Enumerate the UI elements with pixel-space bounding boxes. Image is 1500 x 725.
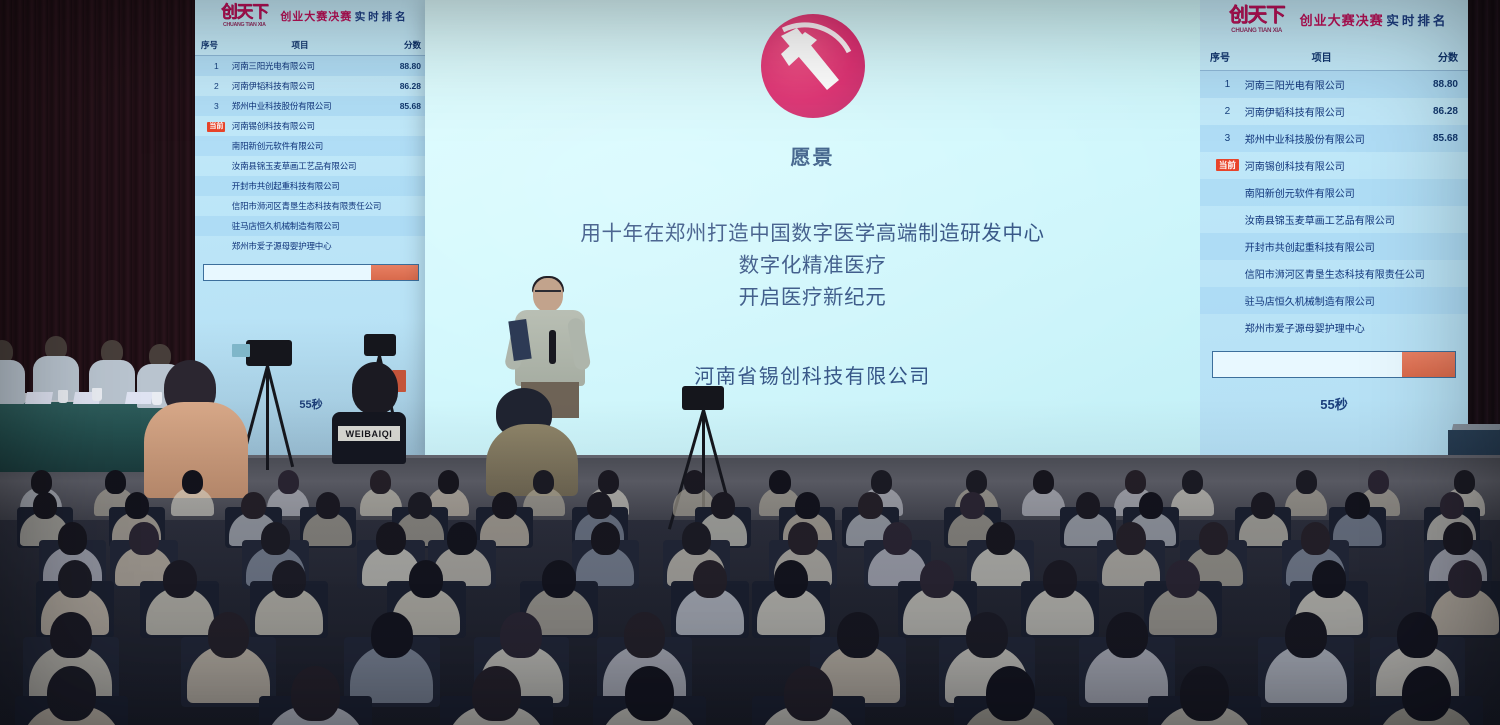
attendee-head: [795, 492, 819, 519]
video-camera-icon: [682, 386, 724, 410]
ranking-row: 2河南伊韬科技有限公司86.28: [1200, 98, 1468, 125]
ranking-row: 1河南三阳光电有限公司88.80: [195, 56, 427, 76]
attendee-head: [1043, 560, 1077, 598]
attendee-head: [1397, 612, 1438, 658]
column-header-item: 项目: [232, 39, 368, 51]
column-header-no: 序号: [1210, 49, 1245, 64]
ranking-row: 2河南伊韬科技有限公司86.28: [195, 76, 427, 96]
ranking-row: 3郑州中业科技股份有限公司85.68: [195, 96, 427, 116]
attendee-head: [920, 560, 954, 598]
column-header-score: 分数: [1398, 49, 1458, 64]
ranking-row: 信阳市浉河区青垦生态科技有限责任公司: [195, 196, 427, 216]
attendee-head: [591, 522, 620, 555]
ranking-column-header: 序号 项目 分数: [1200, 42, 1468, 71]
attendee-shoulders: [486, 424, 578, 496]
attendee-head: [684, 470, 705, 494]
ranking-row-company: 汝南县锦玉麦草画工艺品有限公司: [232, 160, 368, 172]
water-cup: [152, 392, 162, 405]
ranking-row: 开封市共创起重科技有限公司: [1200, 233, 1468, 260]
attendee-head: [1106, 612, 1147, 658]
attendee-head: [542, 560, 576, 598]
attendee-head: [31, 470, 52, 494]
video-camera-icon: [246, 340, 292, 366]
ranking-row-company: 驻马店恒久机械制造有限公司: [1245, 293, 1399, 308]
attendee-head: [33, 492, 57, 519]
attendee-head: [438, 470, 459, 494]
attendee-head: [50, 612, 91, 658]
current-entry-badge: 当前: [1216, 159, 1239, 172]
ranking-row-company: 河南锡创科技有限公司: [1245, 158, 1399, 173]
attendee-head: [774, 560, 808, 598]
ranking-row: 汝南县锦玉麦草画工艺品有限公司: [195, 156, 427, 176]
attendee-head: [105, 470, 126, 494]
attendee-head: [278, 470, 299, 494]
attendee-head: [682, 522, 711, 555]
attendee-head: [500, 612, 541, 658]
timer-progress-bar: [1212, 351, 1456, 378]
current-entry-badge: 当前: [207, 122, 225, 132]
attendee-head: [693, 560, 727, 598]
ranking-row: 信阳市浉河区青垦生态科技有限责任公司: [1200, 260, 1468, 287]
attendee-head: [598, 470, 619, 494]
attendee-head: [858, 492, 882, 519]
attendee-head: [966, 470, 987, 494]
chuangtianxia-logo-icon: 创天下 CHUANG TIAN XIA: [213, 4, 275, 28]
vision-logo-icon: [761, 14, 865, 118]
attendee-head: [58, 522, 87, 555]
ranking-row-company: 南阳新创元软件有限公司: [1245, 185, 1399, 200]
attendee-head: [1312, 560, 1346, 598]
attendee-head: [711, 492, 735, 519]
judge-document: [25, 392, 53, 404]
attendee-head: [58, 560, 92, 598]
attendee-head: [1443, 522, 1472, 555]
attendee-head: [1402, 666, 1451, 721]
attendee-head: [492, 492, 516, 519]
ranking-rows-left: 1河南三阳光电有限公司88.802河南伊韬科技有限公司86.283郑州中业科技股…: [195, 56, 427, 256]
ranking-row-no: 1: [201, 61, 232, 71]
slide-logo-area: 愿景: [425, 14, 1200, 170]
attendee-head: [261, 522, 290, 555]
column-header-no: 序号: [201, 39, 232, 51]
attendee-head: [1440, 492, 1464, 519]
attendee-head: [533, 470, 554, 494]
screenshot-root: 创天下 CHUANG TIAN XIA 创业大赛决赛 实时排名 序号 项目 分数…: [0, 0, 1500, 725]
ranking-row-company: 汝南县锦玉麦草画工艺品有限公司: [1245, 212, 1399, 227]
attendee-head: [208, 612, 249, 658]
attendee-head: [1076, 492, 1100, 519]
attendee-head: [129, 522, 158, 555]
attendee-head: [272, 560, 306, 598]
attendee-head: [883, 522, 912, 555]
ranking-row-company: 开封市共创起重科技有限公司: [1245, 239, 1399, 254]
water-cup: [92, 388, 102, 401]
tripod-leg: [266, 366, 294, 468]
attendee-head: [837, 612, 878, 658]
attendee-head: [1182, 470, 1203, 494]
ranking-row-company: 河南伊韬科技有限公司: [232, 80, 368, 92]
ranking-row-company: 驻马店恒久机械制造有限公司: [232, 220, 368, 232]
attendee-head: [447, 522, 476, 555]
attendee-head: [408, 492, 432, 519]
attendee-head: [769, 470, 790, 494]
camera-flip-screen: [232, 344, 250, 357]
current-badge: 当前: [201, 120, 232, 132]
current-badge: 当前: [1210, 159, 1245, 172]
ranking-row-score: 86.28: [1398, 106, 1458, 117]
ranking-row-no: 3: [1210, 133, 1245, 144]
ranking-row-score: 88.80: [368, 61, 421, 71]
curtain-right: [1468, 0, 1500, 470]
attendee-head: [1301, 522, 1330, 555]
attendee-head: [871, 470, 892, 494]
ranking-row-company: 郑州中业科技股份有限公司: [1245, 131, 1399, 146]
attendee-head: [1116, 522, 1145, 555]
water-cup: [58, 390, 68, 403]
ranking-row: 1河南三阳光电有限公司88.80: [1200, 71, 1468, 98]
attendee-head: [1285, 612, 1326, 658]
column-header-item: 项目: [1245, 49, 1399, 64]
ranking-row-company: 信阳市浉河区青垦生态科技有限责任公司: [1245, 266, 1399, 281]
ranking-row-score: 85.68: [368, 101, 421, 111]
ranking-row-company: 河南锡创科技有限公司: [232, 120, 368, 132]
attendee-head: [1139, 492, 1163, 519]
ranking-row-score: 86.28: [368, 81, 421, 91]
attendee-head: [1251, 492, 1275, 519]
ranking-row-company: 河南伊韬科技有限公司: [1245, 104, 1399, 119]
attendee-head: [1368, 470, 1389, 494]
attendee-head: [472, 666, 521, 721]
timer-progress-bar: [203, 264, 419, 281]
timer-progress-fill: [1402, 352, 1455, 377]
ranking-row: 汝南县锦玉麦草画工艺品有限公司: [1200, 206, 1468, 233]
ranking-panel-right: 创天下 CHUANG TIAN XIA 创业大赛决赛 实时排名 序号 项目 分数…: [1200, 0, 1468, 470]
attendee-head: [1166, 560, 1200, 598]
attendee-head: [241, 492, 265, 519]
ranking-row-no: 1: [1210, 79, 1245, 90]
ranking-title-block: 创业大赛决赛 实时排名: [280, 8, 408, 24]
ranking-header-right: 创天下 CHUANG TIAN XIA 创业大赛决赛 实时排名: [1200, 0, 1468, 34]
ranking-row: 南阳新创元软件有限公司: [195, 136, 427, 156]
ranking-row-company: 信阳市浉河区青垦生态科技有限责任公司: [232, 200, 368, 212]
ranking-row-company: 郑州市爱子源母婴护理中心: [232, 240, 368, 252]
chuangtianxia-logo-icon: 创天下 CHUANG TIAN XIA: [1220, 6, 1294, 34]
attendee-head: [784, 666, 833, 721]
attendee-head: [1345, 492, 1369, 519]
ranking-row: 驻马店恒久机械制造有限公司: [1200, 287, 1468, 314]
attendee-head: [625, 666, 674, 721]
column-header-score: 分数: [368, 39, 421, 51]
attendee-head: [182, 470, 203, 494]
countdown-timer: 55秒: [1200, 394, 1468, 413]
ranking-row-no: 2: [1210, 106, 1245, 117]
ranking-row-company: 南阳新创元软件有限公司: [232, 140, 368, 152]
ranking-row: 当前河南锡创科技有限公司: [195, 116, 427, 136]
attendee-head: [47, 666, 96, 721]
tripod-leg: [266, 366, 269, 470]
attendee-head: [1033, 470, 1054, 494]
attendee-head: [960, 492, 984, 519]
attendee-head: [587, 492, 611, 519]
attendee-head: [163, 560, 197, 598]
attendee-head: [370, 470, 391, 494]
ranking-rows-right: 1河南三阳光电有限公司88.802河南伊韬科技有限公司86.283郑州中业科技股…: [1200, 71, 1468, 341]
ranking-row: 当前河南锡创科技有限公司: [1200, 152, 1468, 179]
attendee-head: [376, 522, 405, 555]
crew-vest-label: WEIBAIQI: [338, 426, 400, 441]
attendee-head: [1296, 470, 1317, 494]
ranking-row: 郑州市爱子源母婴护理中心: [1200, 314, 1468, 341]
ranking-row-company: 郑州中业科技股份有限公司: [232, 100, 368, 112]
ranking-row: 3郑州中业科技股份有限公司85.68: [1200, 125, 1468, 152]
attendee-head: [624, 612, 665, 658]
ranking-title-block: 创业大赛决赛 实时排名: [1300, 10, 1449, 29]
judge-document: [125, 392, 153, 404]
glasses-icon: [535, 290, 561, 296]
ranking-row-score: 85.68: [1398, 133, 1458, 144]
ranking-row-score: 88.80: [1398, 79, 1458, 90]
attendee-head: [1199, 522, 1228, 555]
attendee-head: [966, 612, 1007, 658]
ranking-row: 开封市共创起重科技有限公司: [195, 176, 427, 196]
attendee-head: [1448, 560, 1482, 598]
slide-caption: 愿景: [425, 141, 1200, 170]
ranking-row-no: 2: [201, 81, 232, 91]
ranking-row: 驻马店恒久机械制造有限公司: [195, 216, 427, 236]
attendee-head: [409, 560, 443, 598]
ranking-header-left: 创天下 CHUANG TIAN XIA 创业大赛决赛 实时排名: [195, 0, 427, 28]
attendee-head: [316, 492, 340, 519]
attendee-head: [788, 522, 817, 555]
ranking-row: 郑州市爱子源母婴护理中心: [195, 236, 427, 256]
attendee-head: [986, 522, 1015, 555]
ranking-row-company: 郑州市爱子源母婴护理中心: [1245, 320, 1399, 335]
attendee-head: [371, 612, 412, 658]
microphone-icon: [549, 330, 556, 364]
video-camera-icon: [364, 334, 396, 356]
timer-progress-fill: [371, 265, 418, 280]
ranking-row-company: 河南三阳光电有限公司: [1245, 77, 1399, 92]
ranking-row-company: 河南三阳光电有限公司: [232, 60, 368, 72]
attendee-head: [986, 666, 1035, 721]
ranking-column-header: 序号 项目 分数: [195, 34, 427, 56]
ranking-row-company: 开封市共创起重科技有限公司: [232, 180, 368, 192]
attendee-head: [1454, 470, 1475, 494]
slide-vision-line-1: 用十年在郑州打造中国数字医学高端制造研发中心: [425, 218, 1200, 250]
attendee-head: [291, 666, 340, 721]
attendee-head: [125, 492, 149, 519]
judge-body: [0, 360, 25, 404]
attendee-head: [1180, 666, 1229, 721]
attendee-head: [1125, 470, 1146, 494]
ranking-row-no: 3: [201, 101, 232, 111]
crew-member-head: [352, 362, 398, 414]
ranking-row: 南阳新创元软件有限公司: [1200, 179, 1468, 206]
